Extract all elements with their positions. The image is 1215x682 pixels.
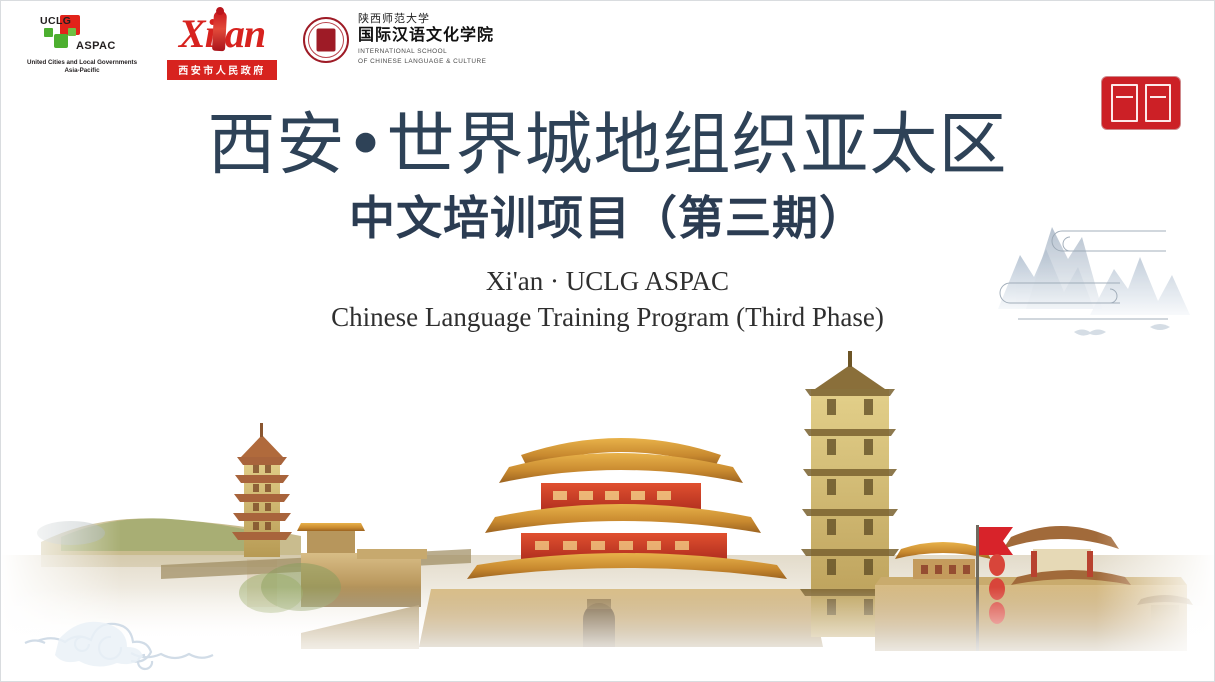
- left-shoreline: [37, 518, 301, 567]
- uclg-aspac-mark: UCLG ASPAC: [30, 15, 134, 55]
- title-block: 西安•世界城地组织亚太区 中文培训项目（第三期） Xi'an · UCLG AS…: [1, 109, 1214, 335]
- university-name-cn: 陕西师范大学: [358, 13, 494, 24]
- causeway: [161, 549, 471, 579]
- university-logo-text: 陕西师范大学 国际汉语文化学院 INTERNATIONAL SCHOOL OF …: [358, 13, 494, 66]
- main-gate-tower: [301, 438, 823, 649]
- uclg-aspac-logo: UCLG ASPAC United Cities and Local Gover…: [23, 9, 141, 76]
- uclg-green-square-small: [44, 28, 53, 37]
- uclg-wordmark-bottom: ASPAC: [76, 41, 116, 52]
- uclg-green-square-tiny: [68, 28, 76, 36]
- university-seal-icon: [303, 17, 349, 63]
- english-title-line2: Chinese Language Training Program (Third…: [1, 301, 1214, 335]
- uclg-caption-line2: Asia-Pacific: [23, 67, 141, 75]
- left-pagoda: [232, 423, 292, 607]
- big-wild-goose-pagoda: [800, 351, 900, 637]
- xian-cityscape-panorama: [1, 337, 1215, 667]
- university-school-en-line2: OF CHINESE LANGUAGE & CULTURE: [358, 57, 494, 67]
- english-title-line1: Xi'an · UCLG ASPAC: [1, 265, 1214, 299]
- uclg-wordmark-top: UCLG: [40, 16, 71, 27]
- xian-banner-text: 西安市人民政府: [167, 60, 277, 80]
- red-lanterns: [989, 554, 1005, 624]
- page-subtitle: 中文培训项目（第三期）: [1, 192, 1214, 245]
- auspicious-cloud-motif: [19, 593, 279, 673]
- university-school-cn: 国际汉语文化学院: [358, 27, 494, 43]
- uclg-green-square-large: [54, 34, 68, 48]
- presentation-title-slide: UCLG ASPAC United Cities and Local Gover…: [0, 0, 1215, 682]
- moat-water: [1, 555, 1215, 637]
- left-city-wall: [239, 523, 427, 613]
- right-city-wall: [875, 526, 1193, 651]
- page-title: 西安•世界城地组织亚太区: [1, 109, 1214, 182]
- xian-municipal-government-logo: Xi'an 西安市人民政府: [167, 9, 277, 80]
- uclg-caption: United Cities and Local Governments Asia…: [23, 59, 141, 76]
- university-school-en-line1: INTERNATIONAL SCHOOL: [358, 47, 494, 57]
- shaanxi-normal-university-logo: 陕西师范大学 国际汉语文化学院 INTERNATIONAL SCHOOL OF …: [303, 9, 494, 66]
- uclg-caption-line1: United Cities and Local Governments: [23, 59, 141, 67]
- university-seal-core: [317, 28, 336, 51]
- logo-bar: UCLG ASPAC United Cities and Local Gover…: [23, 9, 494, 80]
- flagpole: [976, 525, 1013, 651]
- xian-figure-icon: [212, 11, 227, 52]
